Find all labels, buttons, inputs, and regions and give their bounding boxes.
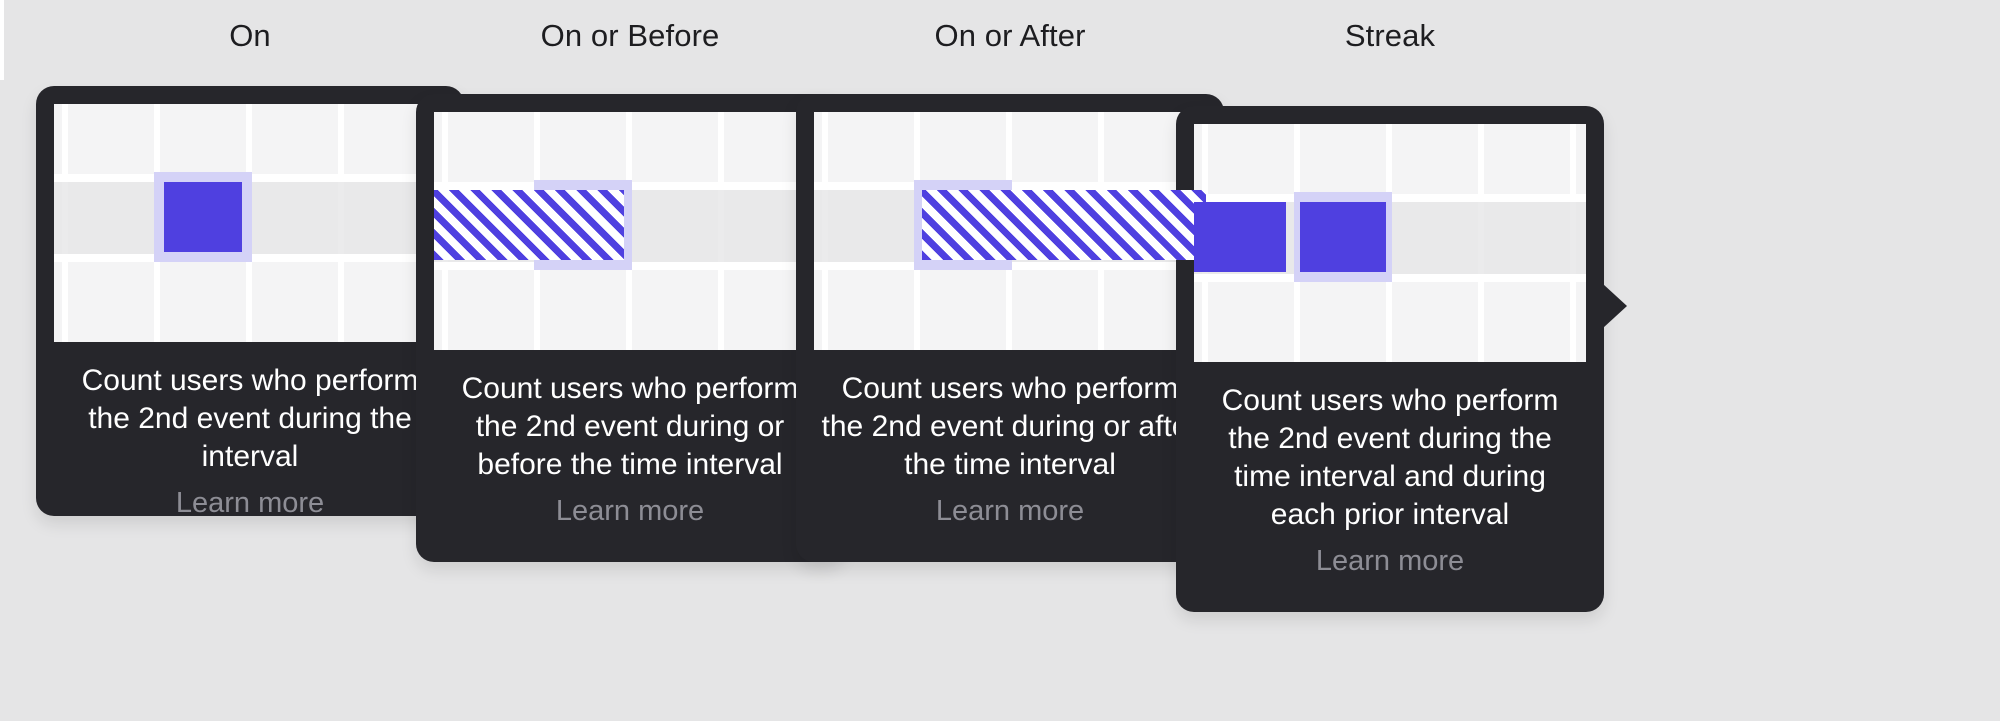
card-description-streak: Count users who perform the 2nd event du… [1194,382,1586,534]
conversion-window-options-board: On [0,0,2000,721]
grid-cell-mid-4 [1484,202,1570,274]
option-column-on-or-before: On or Before [416,18,844,562]
grid-cell-mid-1 [68,182,154,254]
card-description-on-or-after: Count users who perform the 2nd event du… [814,370,1206,484]
option-column-streak: Streak [1176,18,1604,612]
grid-cell-mid-3 [252,182,338,254]
grid-cell-mid-0 [54,182,62,254]
grid-cell-mid-0 [814,190,822,262]
tooltip-card-on-or-before[interactable]: Count users who perform the 2nd event du… [416,94,844,562]
learn-more-link-streak[interactable]: Learn more [1194,542,1586,580]
column-header-streak: Streak [1176,18,1604,58]
tooltip-card-streak[interactable]: Count users who perform the 2nd event du… [1176,106,1604,612]
tooltip-card-on-or-after[interactable]: Count users who perform the 2nd event du… [796,94,1224,562]
event-bar-streak [1300,202,1386,272]
learn-more-link-on[interactable]: Learn more [54,484,446,522]
card-description-on-or-before: Count users who perform the 2nd event du… [434,370,826,484]
option-column-on-or-after: On or After [796,18,1224,562]
card-description-on: Count users who perform the 2nd event du… [54,362,446,476]
column-header-on-or-after: On or After [796,18,1224,58]
diagram-streak [1194,124,1586,362]
column-header-on-or-before: On or Before [416,18,844,58]
tooltip-card-on[interactable]: Count users who perform the 2nd event du… [36,86,464,516]
column-header-on: On [36,18,464,58]
grid-cell-mid-3 [1392,202,1478,274]
grid-cell-mid-5 [1576,202,1586,274]
learn-more-link-on-or-before[interactable]: Learn more [434,492,826,530]
card-pointer-tail-streak [1603,284,1627,328]
grid-cell-mid-3 [632,190,718,262]
diagram-on-or-after [814,112,1206,350]
event-bar-on [164,182,242,252]
event-bar-prior-streak [1194,202,1286,272]
event-hatch-on-or-before [434,190,624,260]
diagram-on-or-before [434,112,826,350]
learn-more-link-on-or-after[interactable]: Learn more [814,492,1206,530]
option-column-on: On [36,18,464,516]
grid-cell-mid-1 [828,190,914,262]
diagram-on [54,104,446,342]
event-hatch-on-or-after [922,190,1206,260]
